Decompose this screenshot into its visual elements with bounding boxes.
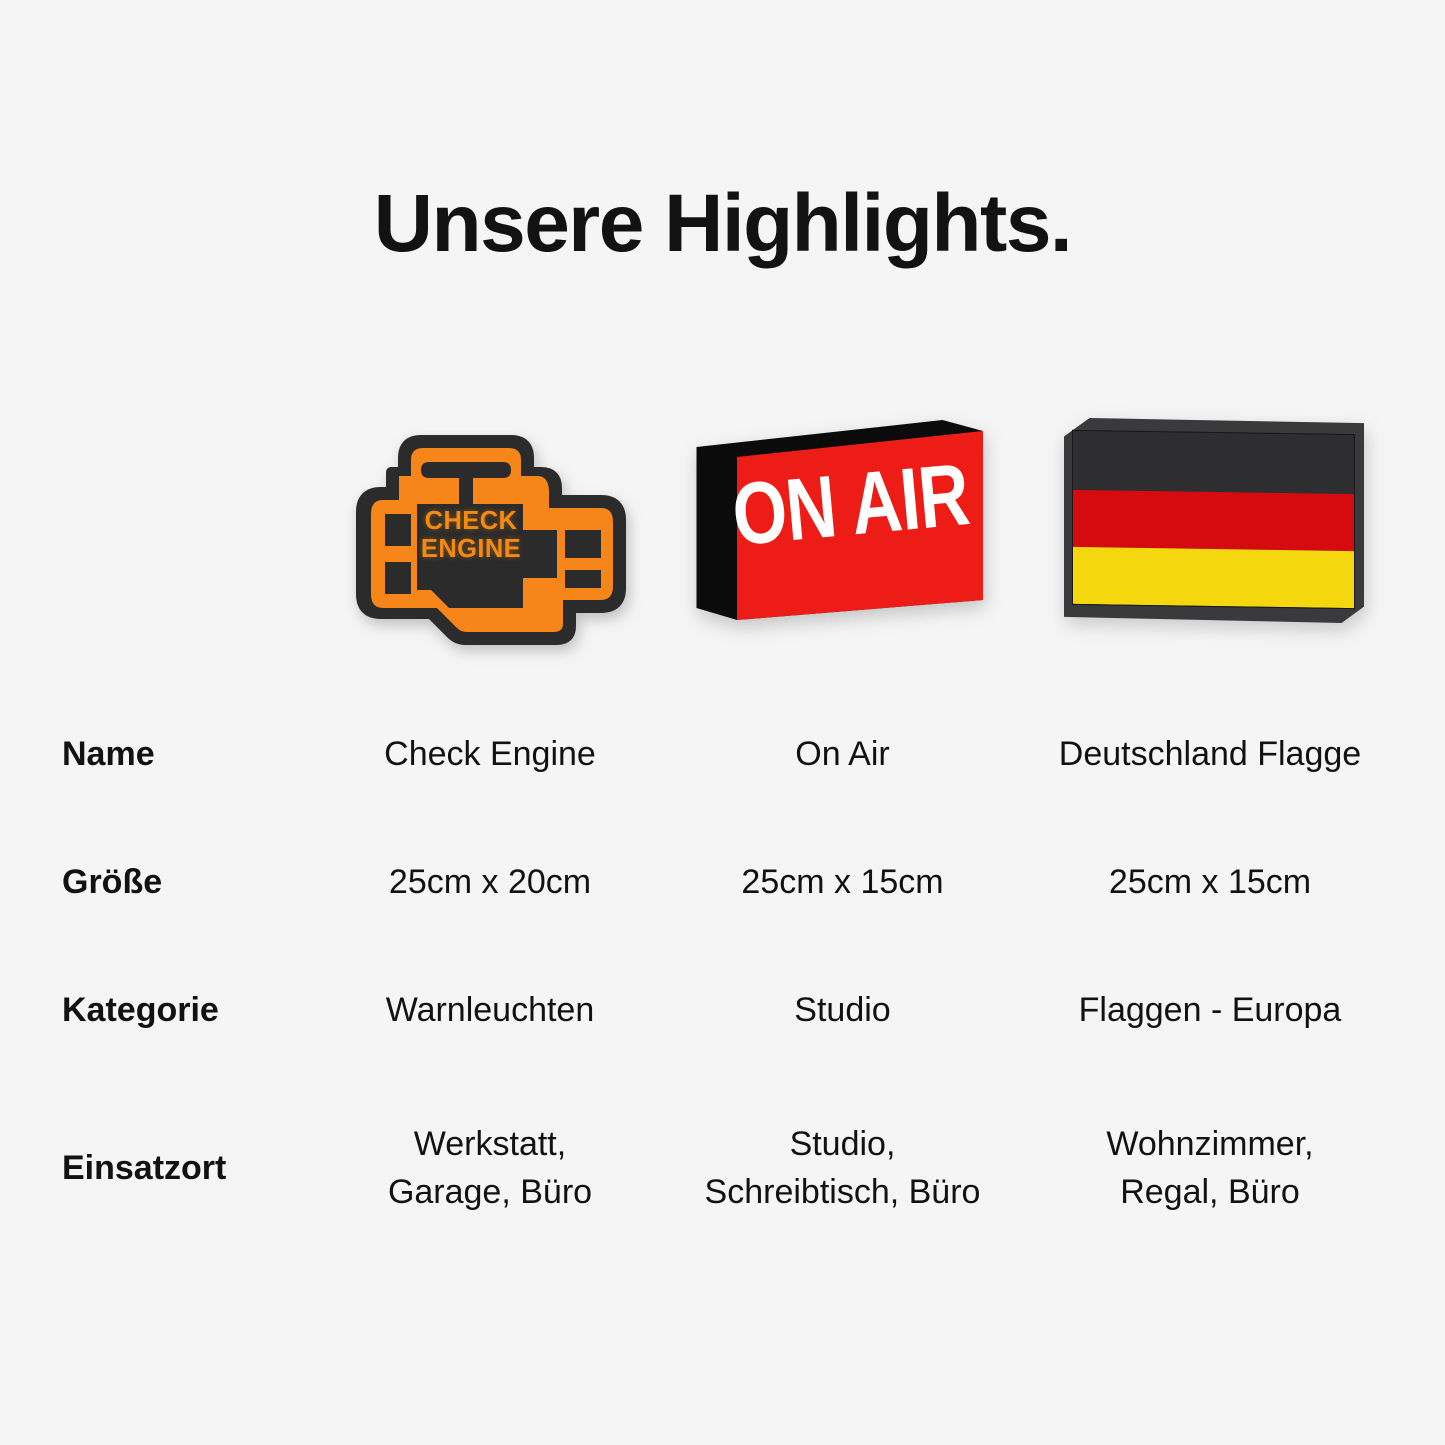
on-air-text: ON AIR (729, 450, 986, 560)
cell-text: 25cm x 15cm (1020, 858, 1400, 906)
cell-text: Warnleuchten (315, 986, 665, 1034)
cell-text: On Air (665, 730, 1020, 778)
cell-name-check-engine: Check Engine (315, 730, 665, 778)
cell-name-on-air: On Air (665, 730, 1020, 778)
on-air-lightbox-icon: ON AIR (683, 420, 1003, 635)
check-engine-icon: CHECK ENGINE (325, 412, 655, 657)
cell-text: Deutschland Flagge (1020, 730, 1400, 778)
flag-stripe-gold (1073, 547, 1354, 608)
cell-text: Studio, (665, 1120, 1020, 1168)
table-row: Kategorie Warnleuchten Studio Flaggen - … (0, 946, 1445, 1074)
cell-text: Werkstatt, (315, 1120, 665, 1168)
cell-kategorie-check-engine: Warnleuchten (315, 986, 665, 1034)
cell-text: Studio (665, 986, 1020, 1034)
cell-kategorie-deutschland-flagge: Flaggen - Europa (1020, 986, 1400, 1034)
check-engine-label-line1: CHECK (425, 507, 518, 535)
table-row: Größe 25cm x 20cm 25cm x 15cm 25cm x 15c… (0, 818, 1445, 946)
flag-box-face (1072, 430, 1355, 609)
cell-text: Garage, Büro (315, 1168, 665, 1216)
cell-name-deutschland-flagge: Deutschland Flagge (1020, 730, 1400, 778)
cell-text: Wohnzimmer, (1020, 1120, 1400, 1168)
product-image-on-air[interactable]: ON AIR (665, 400, 1020, 665)
cell-text: Schreibtisch, Büro (665, 1168, 1020, 1216)
row-label-kategorie: Kategorie (0, 986, 315, 1034)
cell-text: 25cm x 20cm (315, 858, 665, 906)
cell-einsatzort-on-air: Studio, Schreibtisch, Büro (665, 1120, 1020, 1217)
product-image-row: CHECK ENGINE ON AIR (0, 400, 1445, 665)
highlights-page: Unsere Highlights. CHECK ENGI (0, 0, 1445, 1445)
cell-text: 25cm x 15cm (665, 858, 1020, 906)
flag-stripe-red (1073, 490, 1354, 551)
table-row: Name Check Engine On Air Deutschland Fla… (0, 690, 1445, 818)
flag-stripe-black (1073, 431, 1354, 494)
cell-groesse-check-engine: 25cm x 20cm (315, 858, 665, 906)
spec-table: Name Check Engine On Air Deutschland Fla… (0, 690, 1445, 1262)
cell-text: Check Engine (315, 730, 665, 778)
row-label-groesse: Größe (0, 858, 315, 906)
check-engine-label-line2: ENGINE (421, 535, 521, 563)
germany-flag-lightbox-icon (1064, 418, 1374, 638)
cell-groesse-deutschland-flagge: 25cm x 15cm (1020, 858, 1400, 906)
check-engine-label: CHECK ENGINE (397, 508, 545, 563)
cell-einsatzort-deutschland-flagge: Wohnzimmer, Regal, Büro (1020, 1120, 1400, 1217)
cell-text: Regal, Büro (1020, 1168, 1400, 1216)
row-label-name: Name (0, 730, 315, 778)
cell-einsatzort-check-engine: Werkstatt, Garage, Büro (315, 1120, 665, 1217)
product-image-deutschland-flagge[interactable] (1020, 400, 1380, 665)
product-image-check-engine[interactable]: CHECK ENGINE (315, 400, 665, 665)
cell-text: Flaggen - Europa (1020, 986, 1400, 1034)
row-label-einsatzort: Einsatzort (0, 1144, 315, 1192)
cell-kategorie-on-air: Studio (665, 986, 1020, 1034)
cell-groesse-on-air: 25cm x 15cm (665, 858, 1020, 906)
page-title: Unsere Highlights. (0, 183, 1445, 265)
table-row: Einsatzort Werkstatt, Garage, Büro Studi… (0, 1074, 1445, 1262)
